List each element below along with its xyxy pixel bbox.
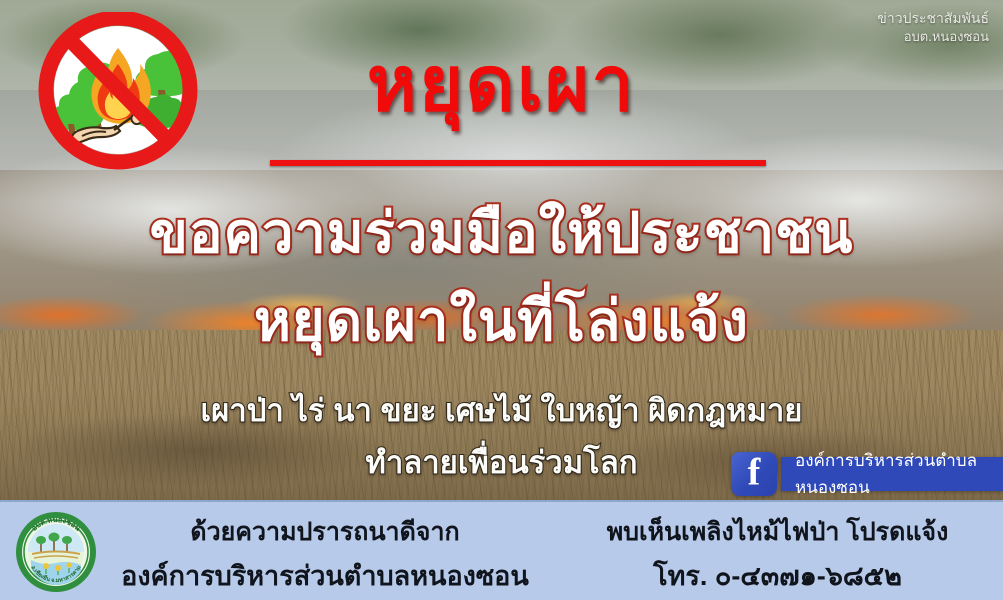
footer-phone-numbers: โทร. ๐-๔๓๗๑-๖๘๕๒ ,๐๖-๒๙๑๙-๙๑๕๒ (560, 556, 995, 600)
page-title: หยุดเผา (0, 24, 1003, 144)
poster-canvas: ข่าวประชาสัมพันธ์ อบต.หนองซอน (0, 0, 1003, 600)
footer-left-block: ด้วยความปรารถนาดีจาก องค์การบริหารส่วนตำ… (105, 514, 545, 596)
facebook-icon-glyph: f (731, 453, 777, 491)
detail-line-1: เผาป่า ไร่ นา ขยะ เศษไม้ ใบหญ้า ผิดกฎหมา… (0, 385, 1003, 435)
title-divider (270, 160, 766, 166)
footer-left-line1: ด้วยความปรารถนาดีจาก (105, 514, 545, 552)
footer-right-line1: พบเห็นเพลิงไหม้ไฟป่า โปรดแจ้ง (560, 514, 995, 552)
facebook-icon[interactable]: f (731, 452, 777, 496)
footer-right-block: พบเห็นเพลิงไหม้ไฟป่า โปรดแจ้ง โทร. ๐-๔๓๗… (560, 514, 995, 600)
facebook-badge[interactable]: f องค์การบริหารส่วนตำบลหนองซอน (731, 452, 1003, 496)
subheading-line-1: ขอความร่วมมือให้ประชาชน (0, 188, 1003, 277)
subheading-line-2: หยุดเผาในที่โล่งแจ้ง (0, 276, 1003, 365)
municipal-seal-icon: อบต.หนองซอน อ.เชียงยืน จ.มหาสารคาม (14, 510, 98, 594)
footer-left-line2: องค์การบริหารส่วนตำบลหนองซอน (105, 556, 545, 597)
facebook-page-name[interactable]: องค์การบริหารส่วนตำบลหนองซอน (781, 457, 1003, 491)
footer-bar: อบต.หนองซอน อ.เชียงยืน จ.มหาสารคาม ด้วยค… (0, 500, 1003, 600)
